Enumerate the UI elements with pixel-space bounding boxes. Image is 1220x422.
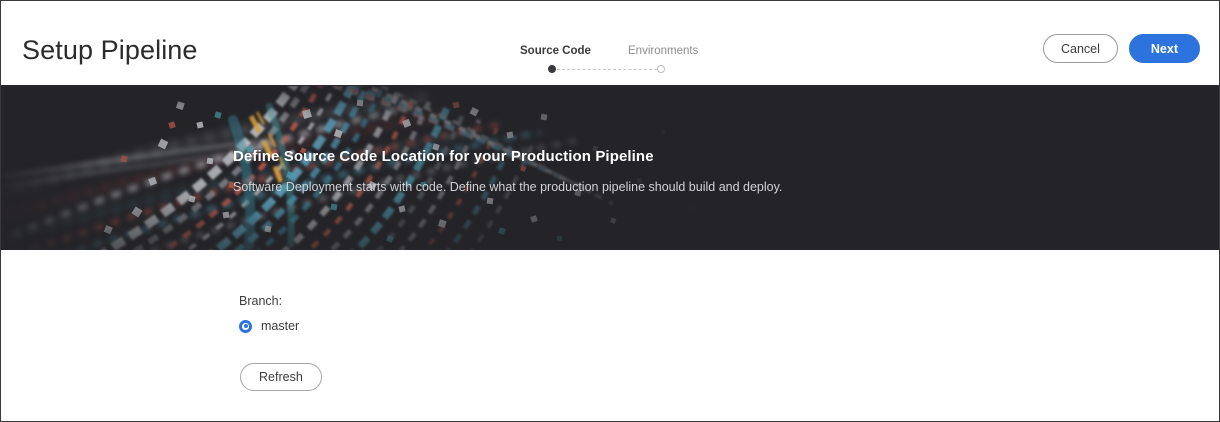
step-connector-line: [557, 69, 657, 70]
setup-pipeline-window: Setup Pipeline Source Code Environments …: [0, 0, 1220, 422]
step-label-environments[interactable]: Environments: [628, 43, 698, 59]
next-button[interactable]: Next: [1129, 34, 1200, 63]
hero-banner: Define Source Code Location for your Pro…: [1, 86, 1219, 250]
step-track: [548, 64, 665, 74]
step-dot-inactive-icon[interactable]: [657, 65, 665, 73]
cancel-button[interactable]: Cancel: [1043, 34, 1118, 63]
branch-option-label: master: [261, 318, 299, 334]
page-header: Setup Pipeline Source Code Environments …: [1, 1, 1219, 86]
header-actions: Cancel Next: [1043, 34, 1200, 63]
step-label-source-code[interactable]: Source Code: [520, 43, 591, 59]
branch-option-master[interactable]: master: [239, 318, 299, 334]
branch-label: Branch:: [239, 293, 282, 309]
radio-wrap: [239, 320, 252, 333]
hero-subtitle: Software Deployment starts with code. De…: [233, 179, 1133, 195]
form-panel: Branch: master Refresh: [1, 250, 1219, 421]
hero-text-block: Define Source Code Location for your Pro…: [233, 148, 1133, 195]
step-labels: Source Code Environments: [501, 43, 721, 59]
hero-title: Define Source Code Location for your Pro…: [233, 148, 1133, 166]
step-dot-active-icon[interactable]: [548, 65, 556, 73]
page-title: Setup Pipeline: [22, 37, 198, 64]
refresh-button[interactable]: Refresh: [240, 363, 322, 391]
step-indicator: Source Code Environments: [501, 43, 721, 77]
radio-inner-dot-icon: [244, 324, 248, 328]
